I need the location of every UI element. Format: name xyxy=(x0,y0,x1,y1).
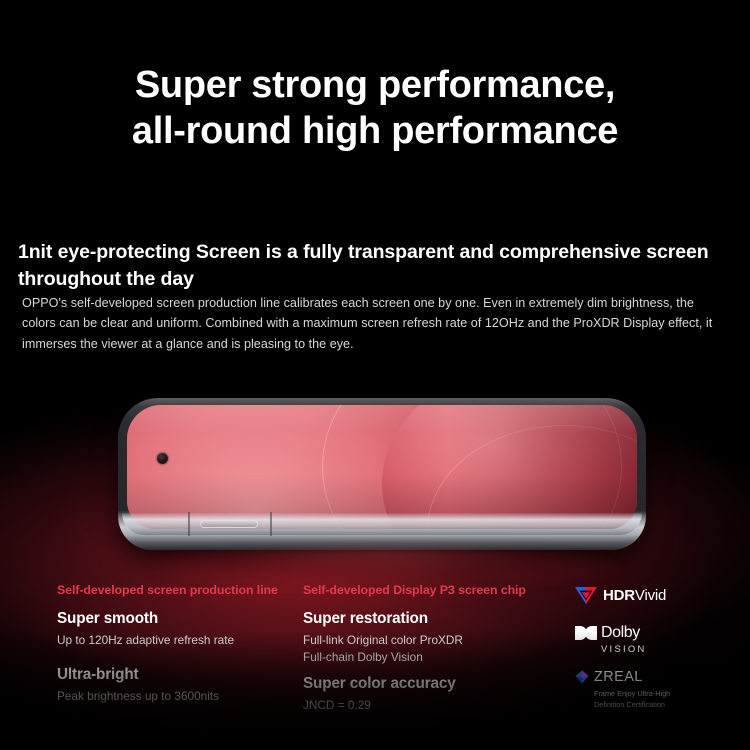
hdr-vivid-label: HDRVivid xyxy=(603,587,666,604)
feature-column-display-chip: Self-developed Display P3 screen chip Su… xyxy=(303,583,553,713)
feature-title: Ultra-bright xyxy=(57,666,297,684)
badge-hdr-vivid: HDRVivid xyxy=(575,586,735,605)
feature-item: Super color accuracy JNCD = 0.29 xyxy=(303,675,553,714)
screen-glass-sheen xyxy=(127,405,637,529)
dolby-vision-label: VISION xyxy=(601,643,647,654)
badge-zreal: ZREAL Frame Enjoy Ultra-High Definition … xyxy=(575,669,735,710)
volume-button xyxy=(200,520,258,528)
spacer xyxy=(57,649,297,666)
phone-reflection xyxy=(150,548,620,588)
feature-title: Super smooth xyxy=(57,610,297,628)
headline-line-1: Super strong performance, xyxy=(135,64,615,106)
certification-badges: HDRVivid Dolby VISION ZREAL Fra xyxy=(575,586,735,710)
page-headline: Super strong performance, all-round high… xyxy=(0,62,750,155)
feature-title: Super restoration xyxy=(303,610,553,628)
column-label: Self-developed screen production line xyxy=(57,583,297,597)
hdr-text-light: Vivid xyxy=(635,587,666,604)
phone-screen xyxy=(127,405,637,529)
feature-column-screen-line: Self-developed screen production line Su… xyxy=(57,583,297,705)
zreal-diamond-icon xyxy=(575,670,589,684)
feature-title: Super color accuracy xyxy=(303,675,553,693)
zreal-label: ZREAL xyxy=(594,669,643,685)
zreal-sub-line-2: Definition Certification xyxy=(594,700,665,711)
headline-line-2: all-round high performance xyxy=(0,108,750,154)
feature-item: Super smooth Up to 120Hz adaptive refres… xyxy=(57,610,297,649)
punch-hole-camera-icon xyxy=(157,453,168,464)
smartphone-render xyxy=(118,398,646,550)
feature-item: Super restoration Full-link Original col… xyxy=(303,610,553,666)
hdr-text-bold: HDR xyxy=(603,587,635,604)
column-label: Self-developed Display P3 screen chip xyxy=(303,583,553,597)
feature-desc: JNCD = 0.29 xyxy=(303,697,553,714)
feature-desc: Peak brightness up to 3600nits xyxy=(57,688,297,705)
hdr-vivid-triangle-icon xyxy=(575,586,597,605)
feature-desc: Up to 120Hz adaptive refresh rate xyxy=(57,632,297,649)
phone-frame xyxy=(118,398,646,550)
feature-item: Ultra-bright Peak brightness up to 3600n… xyxy=(57,666,297,705)
feature-desc: Full-link Original color ProXDRFull-chai… xyxy=(303,632,553,666)
section-subheading: 1nit eye-protecting Screen is a fully tr… xyxy=(18,239,718,293)
product-feature-page: Super strong performance, all-round high… xyxy=(0,0,750,750)
dolby-double-d-icon xyxy=(575,626,597,640)
badge-dolby-vision: Dolby VISION xyxy=(575,624,735,654)
spacer xyxy=(303,666,553,675)
zreal-row: ZREAL xyxy=(575,669,643,685)
zreal-sub-line-1: Frame Enjoy Ultra-High xyxy=(594,689,670,700)
dolby-row: Dolby xyxy=(575,624,640,642)
phone-antenna-seam-right xyxy=(270,512,272,536)
section-body-copy: OPPO's self-developed screen production … xyxy=(22,293,728,354)
phone-antenna-seam-left xyxy=(188,512,190,536)
dolby-label: Dolby xyxy=(601,624,640,642)
